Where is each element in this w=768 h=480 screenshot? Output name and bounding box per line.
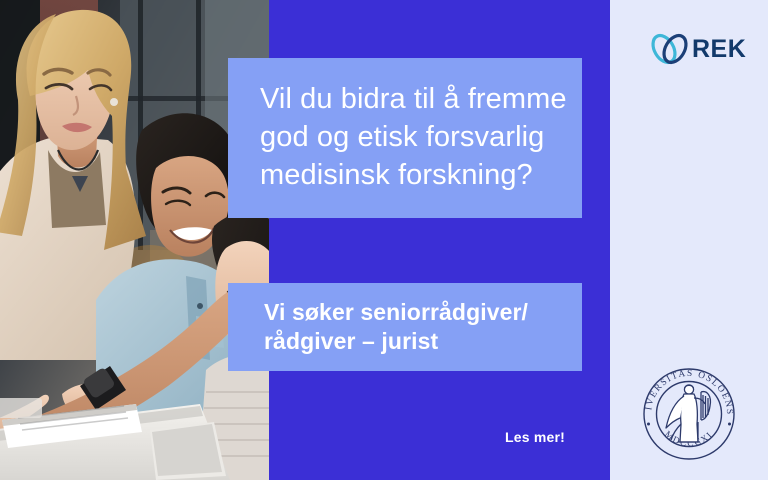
- uio-seal: UNIVERSITAS OSLOENSIS MDCCCXI: [637, 362, 741, 462]
- read-more-link[interactable]: Les mer!: [505, 429, 565, 445]
- headline-text: Vil du bidra til å fremme god og etisk f…: [228, 81, 567, 194]
- rek-logo[interactable]: REK: [648, 26, 738, 72]
- job-title-text: Vi søker seniorrådgiver/ rådgiver – juri…: [228, 298, 528, 357]
- job-ad-banner: Vil du bidra til å fremme god og etisk f…: [0, 0, 768, 480]
- headline-box: Vil du bidra til å fremme god og etisk f…: [228, 58, 582, 218]
- rek-interlocking-rings-icon: [648, 28, 692, 70]
- rek-wordmark: REK: [692, 37, 746, 62]
- job-title-box: Vi søker seniorrådgiver/ rådgiver – juri…: [228, 283, 582, 371]
